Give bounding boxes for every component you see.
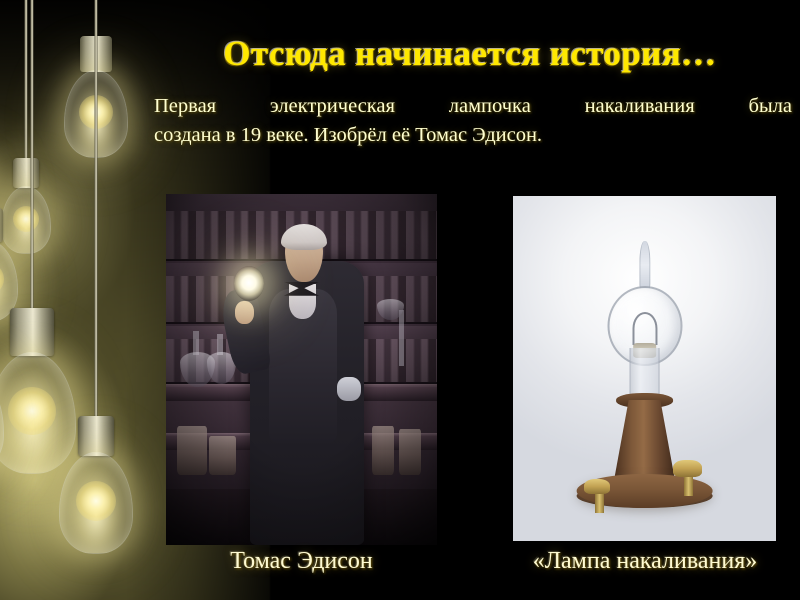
slide-title: Отсюда начинается история…	[150, 34, 790, 74]
caption-lamp: «Лампа накаливания»	[500, 548, 790, 575]
lamp-glass-tip-icon	[639, 241, 650, 289]
jar-icon	[177, 426, 207, 475]
bulb-cord-icon	[25, 0, 28, 160]
jar-icon	[209, 436, 236, 475]
incandescent-lamp-image	[513, 196, 776, 541]
edison-hand	[235, 301, 254, 324]
bulb-cord-icon	[31, 0, 34, 342]
bulb-socket-icon	[0, 208, 3, 242]
carbon-filament-icon	[632, 312, 657, 345]
bottle-icon	[399, 429, 421, 475]
lamp-studio-scene	[513, 196, 776, 541]
brass-terminal-knob-icon	[673, 460, 702, 477]
edison-portrait-image	[166, 194, 437, 545]
presentation-slide: Отсюда начинается история… Первая электр…	[0, 0, 800, 600]
edison-pocketed-hand	[337, 377, 361, 402]
apparatus-stand-icon	[399, 310, 404, 366]
bulb-filament-icon	[76, 481, 116, 521]
body-line-1: Первая электрическая лампочка накаливани…	[154, 92, 792, 121]
bulb-filament-icon	[0, 263, 4, 295]
lamp-wooden-stand	[614, 400, 674, 479]
bottle-icon	[372, 426, 394, 475]
caption-edison: Томас Эдисон	[166, 548, 437, 575]
brass-terminal-knob-icon	[584, 479, 610, 495]
glowing-bulb-icon	[234, 266, 264, 301]
bulb-socket-icon	[13, 158, 39, 188]
bulb-filament-icon	[8, 387, 56, 435]
body-line-2: создана в 19 веке. Изобрёл её Томас Эдис…	[154, 121, 792, 150]
bulb-socket-icon	[78, 416, 114, 456]
laboratory-scene	[166, 194, 437, 545]
slide-body-text: Первая электрическая лампочка накаливани…	[154, 92, 792, 150]
bulb-filament-icon	[13, 206, 39, 232]
bulb-socket-icon	[10, 308, 54, 356]
bulb-cord-icon	[95, 0, 98, 448]
lamp-glass-stem-icon	[629, 348, 660, 396]
